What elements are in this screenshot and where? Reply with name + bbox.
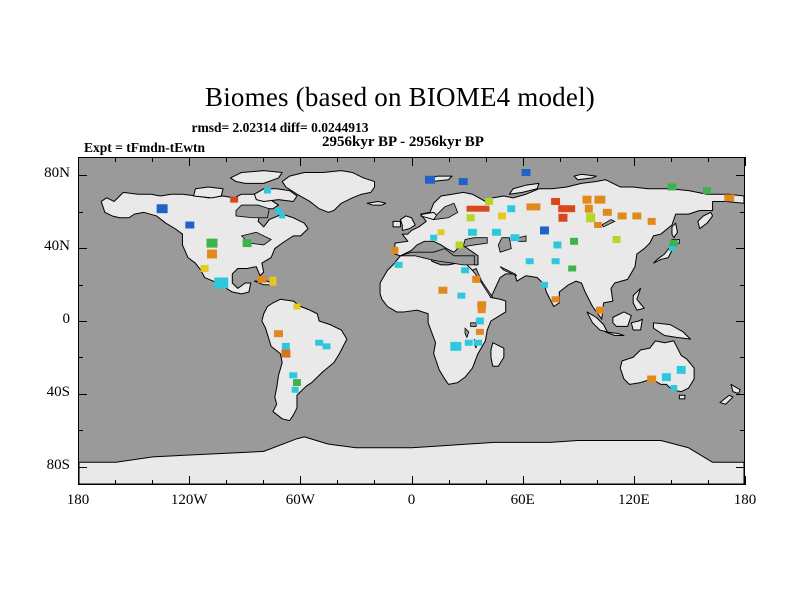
axis-tick — [263, 480, 264, 485]
biome-marker — [551, 198, 560, 205]
biome-marker — [289, 372, 297, 378]
axis-tick — [300, 476, 301, 485]
axis-tick — [263, 157, 264, 162]
biome-marker — [467, 214, 475, 221]
biome-marker — [185, 222, 194, 229]
coastline-new-guinea — [653, 323, 690, 339]
biome-marker — [526, 258, 534, 264]
axis-tick — [189, 476, 190, 485]
axis-tick — [78, 157, 79, 166]
axis-tick — [449, 157, 450, 162]
coastline-kamchatka — [698, 212, 713, 228]
axis-tick — [374, 480, 375, 485]
axis-tick — [736, 467, 745, 468]
axis-tick — [671, 157, 672, 162]
x-axis-tick-label: 180 — [715, 492, 775, 509]
world-map — [79, 158, 744, 484]
axis-tick — [78, 285, 83, 286]
biome-marker — [662, 373, 671, 381]
axis-tick — [560, 480, 561, 485]
axis-tick — [449, 480, 450, 485]
biome-marker — [279, 213, 285, 218]
axis-tick — [634, 157, 635, 166]
axis-tick — [374, 157, 375, 162]
biome-marker — [207, 250, 217, 259]
axis-tick — [78, 175, 87, 176]
x-axis-tick-label: 120W — [159, 492, 219, 509]
axis-tick — [708, 480, 709, 485]
biome-marker — [507, 205, 515, 212]
biome-marker — [391, 247, 398, 254]
coastline-greenland — [282, 171, 374, 213]
axis-tick — [152, 157, 153, 162]
axis-tick — [78, 430, 83, 431]
biome-marker — [568, 265, 576, 271]
coastline-philippines — [633, 288, 644, 310]
axis-tick — [486, 157, 487, 162]
biome-marker — [552, 296, 560, 302]
coastline-south-america — [262, 299, 347, 420]
y-axis-tick-label: 40N — [18, 238, 70, 255]
map-plot-area — [78, 157, 745, 485]
biome-marker — [677, 366, 686, 374]
axis-tick — [740, 357, 745, 358]
biome-marker — [670, 385, 677, 391]
biome-marker — [648, 218, 656, 225]
biome-marker — [157, 204, 168, 213]
biome-marker — [613, 236, 621, 243]
x-axis-tick-label: 60E — [493, 492, 553, 509]
biome-marker — [669, 246, 675, 251]
biome-marker — [474, 340, 482, 346]
axis-tick — [736, 321, 745, 322]
axis-tick — [78, 212, 83, 213]
x-axis-tick-label: 0 — [382, 492, 442, 509]
axis-tick — [78, 467, 87, 468]
axis-tick — [78, 248, 87, 249]
biome-marker — [257, 276, 266, 283]
biome-marker — [552, 258, 560, 264]
biome-marker — [485, 198, 493, 205]
page-title: Biomes (based on BIOME4 model) — [0, 82, 800, 113]
land-layer — [79, 171, 744, 484]
biome-marker — [498, 212, 506, 219]
axis-tick — [226, 480, 227, 485]
coastline-britain — [400, 216, 415, 230]
axis-tick — [152, 480, 153, 485]
biome-marker — [586, 213, 595, 222]
biome-marker — [430, 235, 437, 241]
axis-tick — [745, 157, 746, 166]
axis-tick — [78, 357, 83, 358]
biome-marker — [456, 241, 464, 248]
biome-marker — [275, 208, 282, 214]
x-axis-tick-label: 60W — [270, 492, 330, 509]
axis-tick — [78, 476, 79, 485]
biome-marker — [522, 169, 531, 176]
axis-tick — [597, 157, 598, 162]
axis-tick — [736, 394, 745, 395]
axis-tick — [115, 480, 116, 485]
biome-marker — [450, 342, 461, 351]
axis-tick — [740, 430, 745, 431]
biome-marker — [292, 387, 299, 393]
biome-marker — [293, 304, 300, 310]
biome-marker — [269, 277, 276, 286]
axis-tick — [597, 480, 598, 485]
y-axis-tick-label: 80N — [18, 165, 70, 182]
coastline-victoria-is — [194, 187, 224, 198]
coastline-sakhalin — [672, 223, 678, 237]
x-axis-tick-label: 180 — [48, 492, 108, 509]
coastline-ireland — [393, 221, 400, 226]
coastline-nz-north — [731, 384, 740, 393]
coastline-madagascar — [491, 343, 504, 367]
coastline-severnaya — [574, 174, 596, 179]
period-label: 2956kyr BP - 2956kyr BP — [322, 134, 484, 151]
biome-marker — [201, 265, 209, 272]
coastline-tasmania — [679, 395, 685, 399]
biome-marker — [510, 234, 519, 241]
y-axis-tick-label: 40S — [18, 384, 70, 401]
biome-marker — [618, 212, 627, 219]
biome-marker — [477, 301, 486, 308]
biome-marker — [603, 209, 612, 216]
biome-marker — [282, 343, 290, 350]
inland-sea-hudson-bay — [236, 205, 269, 218]
biome-marker — [526, 203, 540, 210]
axis-tick — [708, 157, 709, 162]
axis-tick — [78, 394, 87, 395]
biome-marker — [264, 188, 271, 194]
coastline-iceland — [367, 201, 385, 205]
axis-tick — [736, 175, 745, 176]
biome-marker — [293, 379, 301, 386]
biome-marker — [647, 375, 656, 382]
biome-marker — [558, 214, 567, 222]
axis-tick — [523, 476, 524, 485]
biome-marker — [540, 226, 549, 234]
biome-marker — [459, 178, 468, 185]
y-axis-tick-label: 0 — [18, 311, 70, 328]
axis-tick — [226, 157, 227, 162]
axis-tick — [300, 157, 301, 166]
coastline-sulawesi — [631, 319, 642, 330]
coastline-baffin — [254, 189, 296, 202]
coastline-sumatra — [587, 312, 607, 332]
axis-tick — [740, 285, 745, 286]
axis-tick — [115, 157, 116, 162]
coastline-borneo — [613, 312, 631, 326]
axis-tick — [486, 480, 487, 485]
biome-marker — [323, 343, 331, 349]
biome-marker — [207, 239, 218, 248]
biome-marker — [425, 176, 435, 184]
coastline-nz-south — [720, 395, 733, 404]
axis-tick — [560, 157, 561, 162]
biome-marker — [230, 197, 238, 203]
axis-tick — [412, 476, 413, 485]
axis-tick — [78, 321, 87, 322]
biome-marker — [472, 276, 480, 283]
biome-marker — [724, 194, 734, 201]
biome-marker — [274, 330, 283, 337]
axis-tick — [189, 157, 190, 166]
biome-marker — [582, 196, 591, 204]
axis-tick — [671, 480, 672, 485]
biome-marker — [243, 239, 252, 247]
axis-tick — [634, 476, 635, 485]
axis-tick — [736, 248, 745, 249]
biome-marker — [476, 318, 484, 325]
axis-tick — [745, 476, 746, 485]
biome-marker — [570, 238, 578, 245]
biome-marker — [596, 307, 604, 314]
biome-marker — [478, 307, 486, 313]
axis-tick — [412, 157, 413, 166]
y-axis-tick-label: 80S — [18, 457, 70, 474]
axis-tick — [523, 157, 524, 166]
biome-marker — [670, 240, 678, 247]
biome-marker — [468, 229, 477, 236]
axis-tick — [740, 212, 745, 213]
coastline-ellesmere — [230, 171, 282, 184]
biome-marker — [465, 340, 473, 346]
experiment-label: Expt = tFmdn-tEwtn — [84, 140, 205, 156]
x-axis-tick-label: 120E — [604, 492, 664, 509]
biome-marker — [438, 229, 445, 235]
axis-tick — [337, 157, 338, 162]
biome-marker — [281, 350, 290, 358]
biome-marker — [585, 205, 593, 213]
biome-marker — [461, 267, 469, 273]
axis-tick — [337, 480, 338, 485]
inland-sea-victoria-lake — [471, 323, 477, 327]
biome-marker — [457, 293, 465, 299]
biome-marker — [594, 196, 605, 204]
biome-marker — [476, 329, 484, 335]
biome-marker — [558, 205, 575, 212]
biome-marker — [703, 187, 711, 194]
biome-marker — [541, 282, 548, 288]
biome-marker — [667, 183, 676, 190]
biome-marker — [438, 287, 447, 294]
coastline-java — [605, 332, 623, 336]
biome-marker — [467, 206, 490, 212]
biome-marker — [553, 241, 561, 248]
biome-marker — [395, 262, 403, 268]
biome-marker — [214, 278, 228, 289]
biome-marker — [315, 340, 323, 346]
biome-marker — [594, 222, 602, 228]
biome-marker — [632, 212, 641, 219]
biome-marker — [492, 229, 501, 236]
